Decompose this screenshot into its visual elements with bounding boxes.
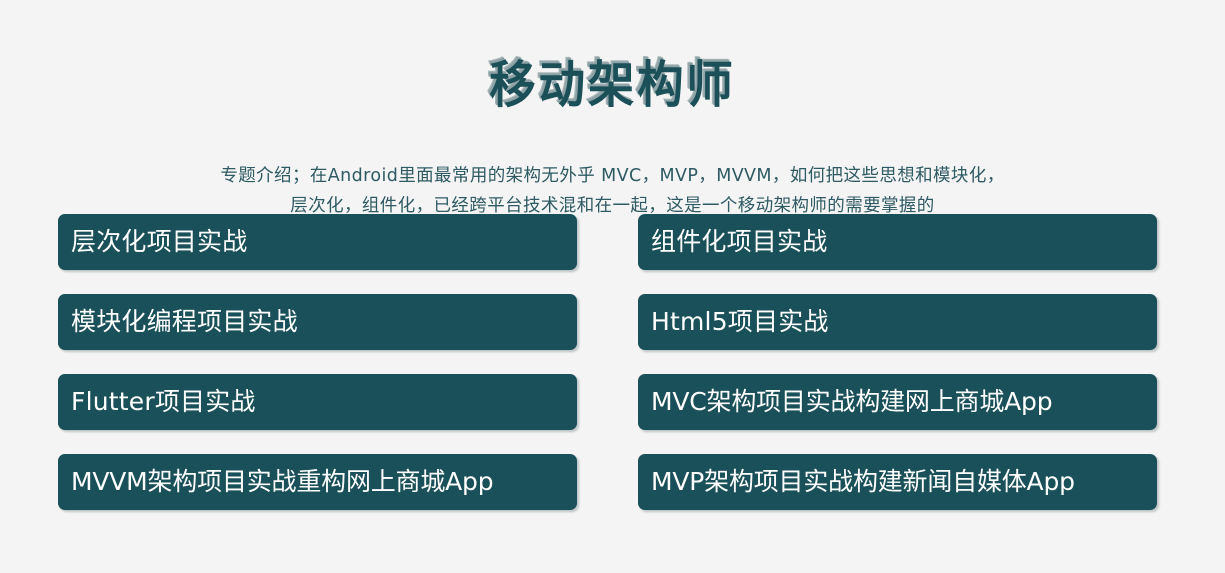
page-subtitle: 专题介绍；在Android里面最常用的架构无外乎 MVC，MVP，MVVM，如何… bbox=[68, 161, 1158, 221]
course-card[interactable]: 模块化编程项目实战 bbox=[58, 294, 577, 350]
course-card-grid: 层次化项目实战 组件化项目实战 模块化编程项目实战 Html5项目实战 Flut… bbox=[58, 214, 1157, 510]
page-title: 移动架构师 bbox=[489, 56, 735, 114]
course-card-label: Flutter项目实战 bbox=[71, 387, 256, 417]
course-card-label: MVVM架构项目实战重构网上商城App bbox=[71, 467, 493, 497]
course-card-label: MVC架构项目实战构建网上商城App bbox=[651, 387, 1052, 417]
course-card[interactable]: Flutter项目实战 bbox=[58, 374, 577, 430]
course-card[interactable]: 组件化项目实战 bbox=[638, 214, 1157, 270]
course-card-label: 层次化项目实战 bbox=[71, 227, 247, 257]
course-card[interactable]: Html5项目实战 bbox=[638, 294, 1157, 350]
course-card-label: 模块化编程项目实战 bbox=[71, 307, 298, 337]
subtitle-line-1: 专题介绍；在Android里面最常用的架构无外乎 MVC，MVP，MVVM，如何… bbox=[68, 161, 1158, 191]
course-card-label: MVP架构项目实战构建新闻自媒体App bbox=[651, 467, 1075, 497]
course-card[interactable]: MVVM架构项目实战重构网上商城App bbox=[58, 454, 577, 510]
course-card[interactable]: MVP架构项目实战构建新闻自媒体App bbox=[638, 454, 1157, 510]
header: 移动架构师 bbox=[0, 0, 1225, 147]
course-card[interactable]: MVC架构项目实战构建网上商城App bbox=[638, 374, 1157, 430]
course-card-label: 组件化项目实战 bbox=[651, 227, 827, 257]
course-card-label: Html5项目实战 bbox=[651, 307, 829, 337]
course-card[interactable]: 层次化项目实战 bbox=[58, 214, 577, 270]
